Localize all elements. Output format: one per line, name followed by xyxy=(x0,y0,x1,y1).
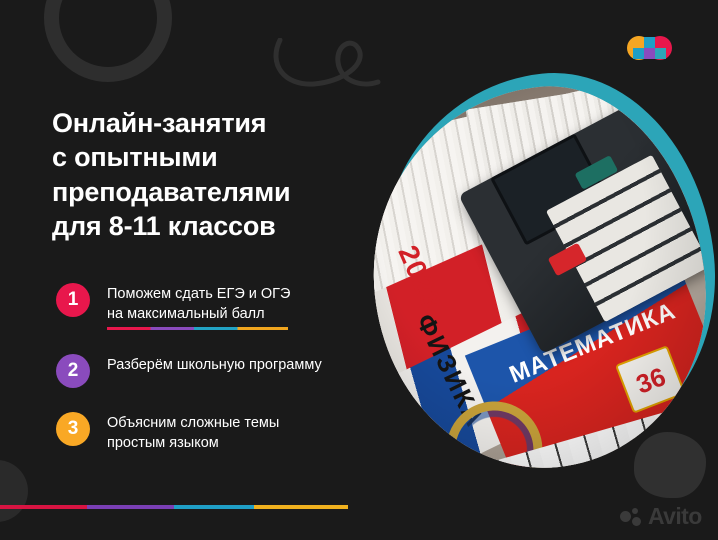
list-item-body: Объясним сложные темы простым языком xyxy=(107,412,279,453)
poster-canvas: 2023 ФИЗИКА МАТЕМАТИКА 36 xyxy=(0,0,718,540)
headline-line-4: для 8-11 классов xyxy=(52,209,352,243)
list-item: 2 Разберём школьную программу xyxy=(56,354,366,388)
list-item: 1 Поможем сдать ЕГЭ и ОГЭ на максимальны… xyxy=(56,283,366,330)
photo-vignette xyxy=(355,72,718,484)
benefit-1-underline xyxy=(107,327,288,330)
decorative-ring-shape xyxy=(44,0,172,82)
badge-number-2: 2 xyxy=(56,354,90,388)
decorative-blob-left xyxy=(0,460,28,522)
list-item: 3 Объясним сложные темы простым языком xyxy=(56,412,366,453)
benefit-3-line-1: Объясним сложные темы xyxy=(107,413,279,433)
badge-number-3: 3 xyxy=(56,412,90,446)
page-title: Онлайн-занятия с опытными преподавателям… xyxy=(52,106,352,243)
avito-dots-icon xyxy=(620,507,644,527)
headline-line-1: Онлайн-занятия xyxy=(52,106,352,140)
benefit-1-line-2: на максимальный балл xyxy=(107,304,290,324)
list-item-body: Разберём школьную программу xyxy=(107,354,322,375)
hero-photo: 2023 ФИЗИКА МАТЕМАТИКА 36 xyxy=(362,74,718,474)
badge-number-1: 1 xyxy=(56,283,90,317)
avito-watermark: Avito xyxy=(620,505,702,528)
benefit-2-line-1: Разберём школьную программу xyxy=(107,355,322,375)
list-item-body: Поможем сдать ЕГЭ и ОГЭ на максимальный … xyxy=(107,283,290,330)
list-item-text: Поможем сдать ЕГЭ и ОГЭ на максимальный … xyxy=(107,284,290,324)
photo-mask: 2023 ФИЗИКА МАТЕМАТИКА 36 xyxy=(355,72,718,484)
benefits-list: 1 Поможем сдать ЕГЭ и ОГЭ на максимальны… xyxy=(56,283,366,453)
headline-line-3: преподавателями xyxy=(52,175,352,209)
list-item-text: Разберём школьную программу xyxy=(107,355,322,375)
headline-line-2: с опытными xyxy=(52,140,352,174)
accent-gradient-bar xyxy=(0,505,348,509)
photo-content: 2023 ФИЗИКА МАТЕМАТИКА 36 xyxy=(355,72,718,484)
avito-wordmark: Avito xyxy=(648,505,702,528)
brand-logo xyxy=(627,31,673,69)
list-item-text: Объясним сложные темы простым языком xyxy=(107,413,279,453)
benefit-3-line-2: простым языком xyxy=(107,433,279,453)
benefit-1-line-1: Поможем сдать ЕГЭ и ОГЭ xyxy=(107,284,290,304)
